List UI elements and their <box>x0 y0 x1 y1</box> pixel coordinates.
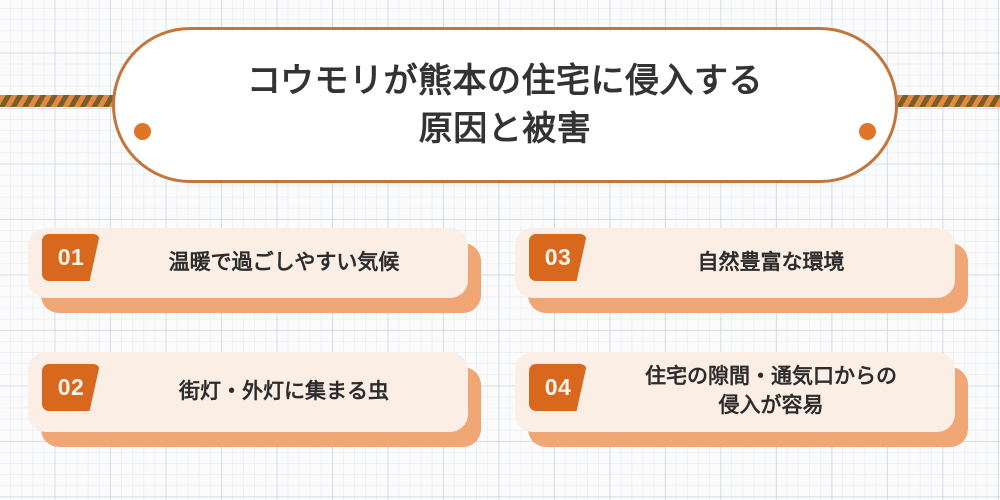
reason-card-01: 01 温暖で過ごしやすい気候 <box>28 228 468 298</box>
reason-card-04: 04 住宅の隙間・通気口からの 侵入が容易 <box>515 352 955 432</box>
title-banner: コウモリが熊本の住宅に侵入する 原因と被害 <box>112 27 898 183</box>
infographic-canvas: コウモリが熊本の住宅に侵入する 原因と被害 01 温暖で過ごしやすい気候 02 … <box>0 0 1000 500</box>
banner-dot-right-icon <box>859 123 876 140</box>
reason-card-03: 03 自然豊富な環境 <box>515 228 955 298</box>
banner-dot-left-icon <box>134 123 151 140</box>
card-body: 01 温暖で過ごしやすい気候 <box>28 228 468 298</box>
reason-card-02: 02 街灯・外灯に集まる虫 <box>28 352 468 432</box>
rope-left <box>0 95 126 107</box>
card-body: 02 街灯・外灯に集まる虫 <box>28 352 468 432</box>
card-body: 03 自然豊富な環境 <box>515 228 955 298</box>
rope-right <box>884 95 1000 107</box>
card-body: 04 住宅の隙間・通気口からの 侵入が容易 <box>515 352 955 432</box>
page-title: コウモリが熊本の住宅に侵入する 原因と被害 <box>247 57 763 154</box>
